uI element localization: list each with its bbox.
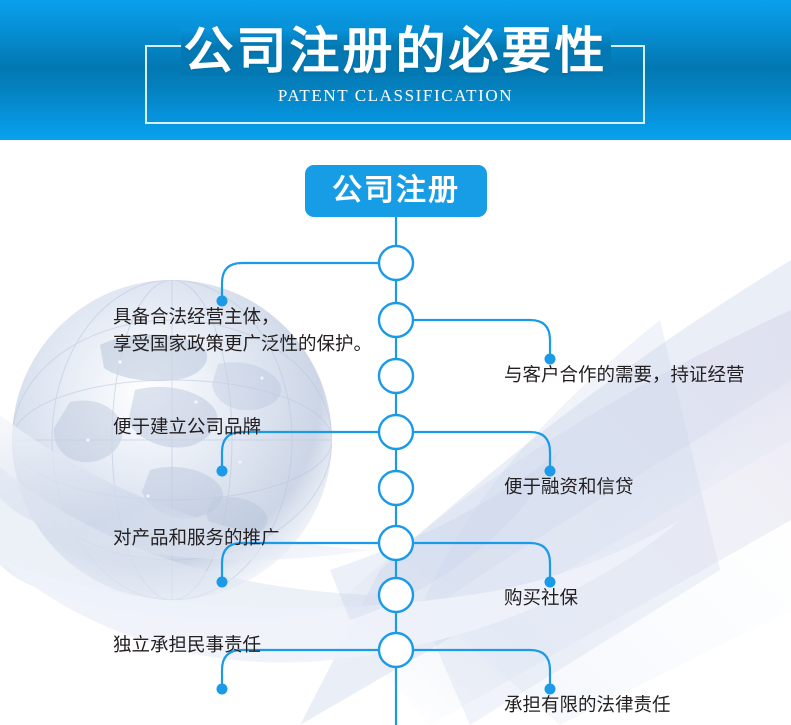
branch-label-left-4-line1: 独立承担民事责任 [113, 631, 261, 658]
endpoint-dot-left-3 [217, 577, 228, 588]
branch-label-right-4: 承担有限的法律责任 [504, 691, 671, 718]
spine-node-6 [379, 526, 413, 560]
branch-label-left-3: 对产品和服务的推广 [113, 524, 280, 551]
branch-right-4 [414, 650, 550, 688]
infographic-page: 公司注册的必要性 PATENT CLASSIFICATION [0, 0, 791, 725]
page-subtitle: PATENT CLASSIFICATION [0, 86, 791, 106]
header-banner: 公司注册的必要性 PATENT CLASSIFICATION [0, 0, 791, 140]
branch-label-left-4: 独立承担民事责任 [113, 631, 261, 658]
spine-node-2 [379, 303, 413, 337]
branch-label-right-3-line1: 购买社保 [504, 584, 578, 611]
page-title: 公司注册的必要性 [0, 22, 791, 80]
endpoint-dot-left-2 [217, 466, 228, 477]
branch-right-1 [414, 320, 550, 358]
branch-label-left-1-line2: 享受国家政策更广泛性的保护。 [113, 330, 372, 357]
mindmap-diagram: 公司注册 [0, 140, 791, 725]
spine-node-1 [379, 246, 413, 280]
spine-node-7 [379, 578, 413, 612]
branch-right-2 [414, 432, 550, 470]
branch-label-left-2: 便于建立公司品牌 [113, 413, 261, 440]
branch-label-left-1-line1: 具备合法经营主体， [113, 303, 372, 330]
branch-label-right-2-line1: 便于融资和信贷 [504, 473, 634, 500]
branch-label-right-3: 购买社保 [504, 584, 578, 611]
spine-node-8 [379, 633, 413, 667]
branch-right-3 [414, 543, 550, 581]
spine-node-4 [379, 415, 413, 449]
branch-label-right-2: 便于融资和信贷 [504, 473, 634, 500]
branch-label-right-1-line1: 与客户合作的需要，持证经营 [504, 361, 745, 388]
branch-label-left-1: 具备合法经营主体， 享受国家政策更广泛性的保护。 [113, 303, 372, 357]
branch-label-right-1: 与客户合作的需要，持证经营 [504, 361, 745, 388]
branch-left-1 [222, 263, 378, 300]
branch-label-left-2-line1: 便于建立公司品牌 [113, 413, 261, 440]
spine-node-5 [379, 471, 413, 505]
endpoint-dot-left-4 [217, 684, 228, 695]
spine-node-3 [379, 359, 413, 393]
branch-label-left-3-line1: 对产品和服务的推广 [113, 524, 280, 551]
branch-label-right-4-line1: 承担有限的法律责任 [504, 691, 671, 718]
